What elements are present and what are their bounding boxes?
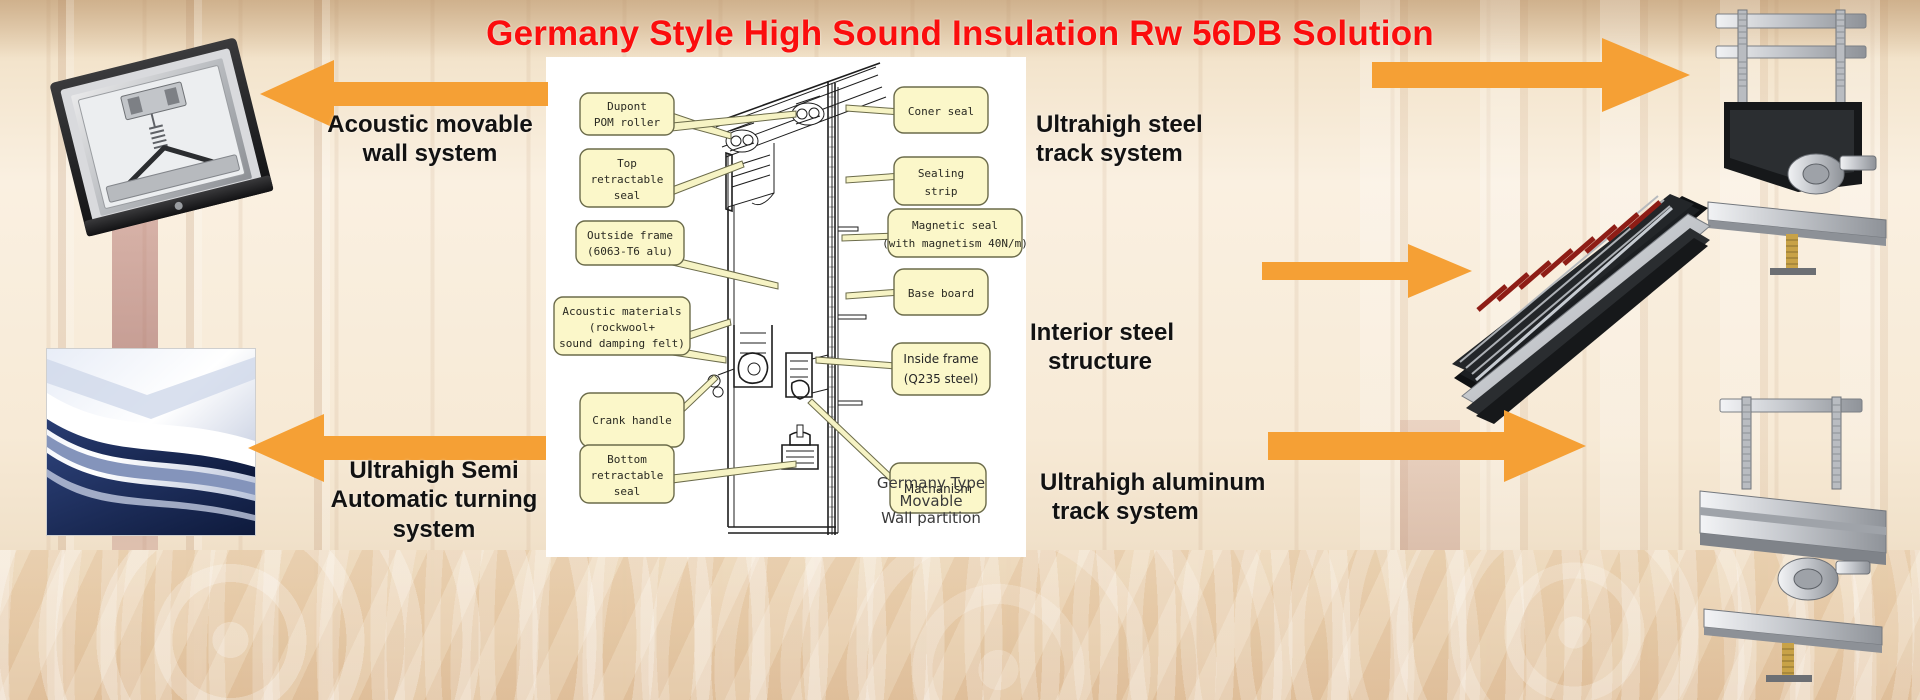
svg-text:strip: strip — [924, 185, 957, 198]
callout-base-board: Base board — [894, 269, 988, 315]
callout-bottom-retractable-seal: Bottom retractable seal — [580, 445, 674, 503]
callout-coner-seal: Coner seal — [894, 87, 988, 133]
caption-acoustic-movable-wall-system: Acoustic movable wall system — [300, 110, 560, 169]
svg-text:retractable: retractable — [591, 469, 664, 482]
acoustic-movable-wall-photo — [46, 38, 294, 238]
page-title: Germany Style High Sound Insulation Rw 5… — [0, 14, 1920, 54]
caption-line: Ultrahigh steel — [1036, 110, 1336, 139]
floor-pattern — [0, 550, 1920, 700]
diagram-caption: Germany Type Movable Wall partition — [846, 475, 1016, 528]
svg-text:Outside frame: Outside frame — [587, 229, 673, 242]
callout-acoustic-materials: Acoustic materials (rockwool+ sound damp… — [554, 297, 690, 355]
caption-line: track system — [1036, 139, 1336, 168]
svg-text:Crank handle: Crank handle — [592, 414, 671, 427]
caption-interior-steel-structure: Interior steel structure — [1030, 318, 1330, 377]
caption-line: wall system — [300, 139, 560, 168]
arrow-right-middle — [1262, 242, 1474, 305]
svg-text:(rockwool+: (rockwool+ — [589, 321, 656, 334]
svg-text:Inside frame: Inside frame — [903, 352, 978, 366]
svg-text:Top: Top — [617, 157, 637, 170]
caption-line: structure — [1030, 347, 1330, 376]
svg-text:Acoustic materials: Acoustic materials — [562, 305, 681, 318]
svg-text:Dupont: Dupont — [607, 100, 647, 113]
caption-ultrahigh-aluminum-track-system: Ultrahigh aluminum track system — [1040, 468, 1360, 527]
callout-top-retractable-seal: Top retractable seal — [580, 149, 674, 207]
callout-magnetic-seal: Magnetic seal (with magnetism 40N/m) — [882, 209, 1026, 257]
svg-text:Coner seal: Coner seal — [908, 105, 974, 118]
technical-diagram-card: .mono { font-family:"DejaVu Sans Mono", … — [546, 57, 1026, 557]
callout-dupont-pom-roller: Dupont POM roller — [580, 93, 674, 135]
svg-text:Magnetic seal: Magnetic seal — [912, 219, 998, 232]
svg-text:seal: seal — [614, 189, 641, 202]
caption-line: Acoustic movable — [300, 110, 560, 139]
svg-text:POM roller: POM roller — [594, 116, 661, 129]
arrow-right-icon — [1262, 242, 1474, 300]
caption-line: Ultrahigh Semi — [300, 456, 568, 485]
svg-text:Sealing: Sealing — [918, 167, 964, 180]
svg-text:seal: seal — [614, 485, 641, 498]
caption-line: Ultrahigh aluminum — [1040, 468, 1360, 497]
svg-text:sound damping felt): sound damping felt) — [559, 337, 685, 350]
caption-line: Interior steel — [1030, 318, 1330, 347]
svg-text:(Q235 steel): (Q235 steel) — [904, 372, 979, 386]
callout-inside-frame: Inside frame (Q235 steel) — [892, 343, 990, 395]
diagram-caption-line: Germany Type Movable — [846, 475, 1016, 510]
svg-text:Bottom: Bottom — [607, 453, 647, 466]
diagram-caption-line: Wall partition — [846, 510, 1016, 528]
svg-text:(6063-T6 alu): (6063-T6 alu) — [587, 245, 673, 258]
caption-line: Automatic turning — [300, 485, 568, 514]
caption-ultrahigh-semi-automatic-turning-system: Ultrahigh Semi Automatic turning system — [300, 456, 568, 544]
caption-ultrahigh-steel-track-system: Ultrahigh steel track system — [1036, 110, 1336, 169]
callout-outside-frame: Outside frame (6063-T6 alu) — [576, 221, 684, 265]
svg-text:(with magnetism 40N/m): (with magnetism 40N/m) — [882, 237, 1026, 250]
aluminum-track-photo — [1690, 395, 1895, 685]
svg-text:Base board: Base board — [908, 287, 974, 300]
callout-sealing-strip: Sealing strip — [894, 157, 988, 205]
caption-line: system — [300, 515, 568, 544]
turning-system-photo — [46, 348, 256, 536]
callout-crank-handle: Crank handle — [580, 393, 684, 447]
caption-line: track system — [1040, 497, 1360, 526]
interior-steel-structure-photo — [1432, 190, 1712, 425]
svg-text:retractable: retractable — [591, 173, 664, 186]
